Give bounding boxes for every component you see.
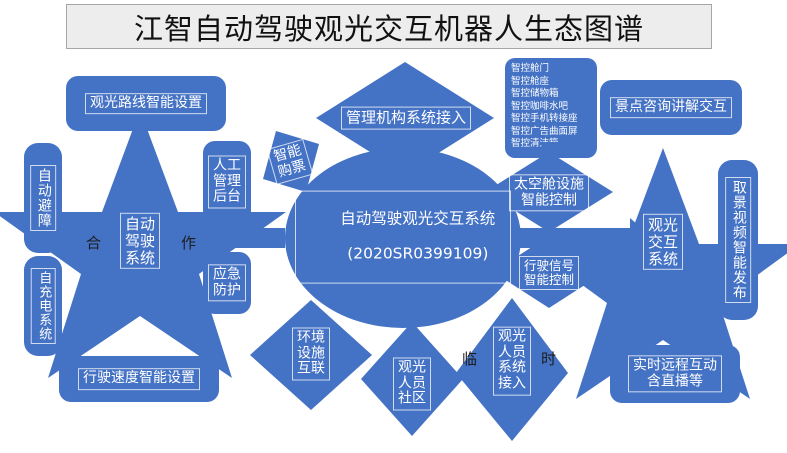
left-star-side-left: 合 (86, 232, 101, 253)
node-signal-control[interactable]: 行驶信号 智能控制 (508, 254, 590, 292)
list-item: 智控舱座 (511, 76, 591, 89)
node-self-charge[interactable]: 自充电系统 (24, 256, 62, 356)
text-temp-lin: 临 (462, 348, 477, 369)
node-speed-setting-label: 行驶速度智能设置 (78, 368, 200, 390)
node-auto-obstacle[interactable]: 自动避障 (24, 143, 62, 253)
node-visitor-access[interactable]: 观光 人员 系统 接入 (486, 314, 538, 408)
node-route-setting-label: 观光路线智能设置 (85, 93, 207, 115)
list-item: 智控舱门 (511, 63, 591, 76)
left-star[interactable]: 自动 驾驶 系统 (101, 205, 179, 277)
list-item: 智控手机转接座 (511, 113, 591, 126)
left-star-label: 自动 驾驶 系统 (120, 213, 160, 269)
node-auto-obstacle-label: 自动避障 (30, 165, 56, 231)
node-visitor-access-label: 观光 人员 系统 接入 (493, 327, 531, 396)
right-star-label: 观光 交互 系统 (643, 214, 683, 270)
node-visitor-community-label: 观光 人员 社区 (393, 357, 431, 410)
diagram-canvas: 江智自动驾驶观光交互机器人生态图谱 自动 驾驶 系统 合 作 观光 交互 (0, 0, 787, 453)
text-temp-shi: 时 (541, 348, 556, 369)
node-video-publish-label: 取景视频智能发布 (725, 177, 751, 303)
node-spot-guide[interactable]: 景点咨询讲解交互 (600, 80, 742, 135)
node-visitor-community[interactable]: 观光 人员 社区 (386, 348, 438, 420)
list-item: 智控咖啡水吧 (511, 101, 591, 114)
node-admin-access[interactable]: 管理机构系统接入 (332, 100, 480, 136)
center-system-name: 自动驾驶观光交互系统 (340, 210, 495, 228)
node-env-link-label: 环境 设施 互联 (292, 327, 330, 380)
list-item: 智控储物箱 (511, 88, 591, 101)
node-live-interact-label: 实时远程互动 含直播等 (628, 355, 722, 392)
node-emergency-label: 应急 防护 (208, 264, 246, 301)
left-star-side-right: 作 (181, 232, 196, 253)
center-system-code: (2020SR0399109) (347, 245, 488, 263)
center-system[interactable]: 自动驾驶观光交互系统 (2020SR0399109) (296, 212, 510, 262)
node-env-link[interactable]: 环境 设施 互联 (284, 318, 338, 390)
smart-control-list-tail (538, 142, 564, 155)
right-star[interactable]: 观光 交互 系统 (628, 206, 698, 278)
node-manual-admin[interactable]: 人工 管理 后台 (203, 141, 251, 223)
node-smart-ticket-label: 智能 购票 (267, 139, 314, 185)
node-cabin-control[interactable]: 太空舱设施 智能控制 (503, 172, 595, 214)
node-self-charge-label: 自充电系统 (31, 268, 56, 344)
node-video-publish[interactable]: 取景视频智能发布 (718, 160, 758, 320)
node-speed-setting[interactable]: 行驶速度智能设置 (59, 356, 219, 402)
node-emergency[interactable]: 应急 防护 (203, 252, 251, 314)
node-cabin-control-label: 太空舱设施 智能控制 (509, 174, 589, 211)
node-live-interact[interactable]: 实时远程互动 含直播等 (610, 345, 740, 403)
node-admin-access-label: 管理机构系统接入 (341, 107, 471, 130)
node-spot-guide-label: 景点咨询讲解交互 (610, 97, 732, 119)
node-route-setting[interactable]: 观光路线智能设置 (66, 76, 226, 131)
node-signal-control-label: 行驶信号 智能控制 (519, 256, 579, 290)
node-manual-admin-label: 人工 管理 后台 (208, 155, 246, 208)
list-item: 智控广告曲面屏 (511, 126, 591, 139)
